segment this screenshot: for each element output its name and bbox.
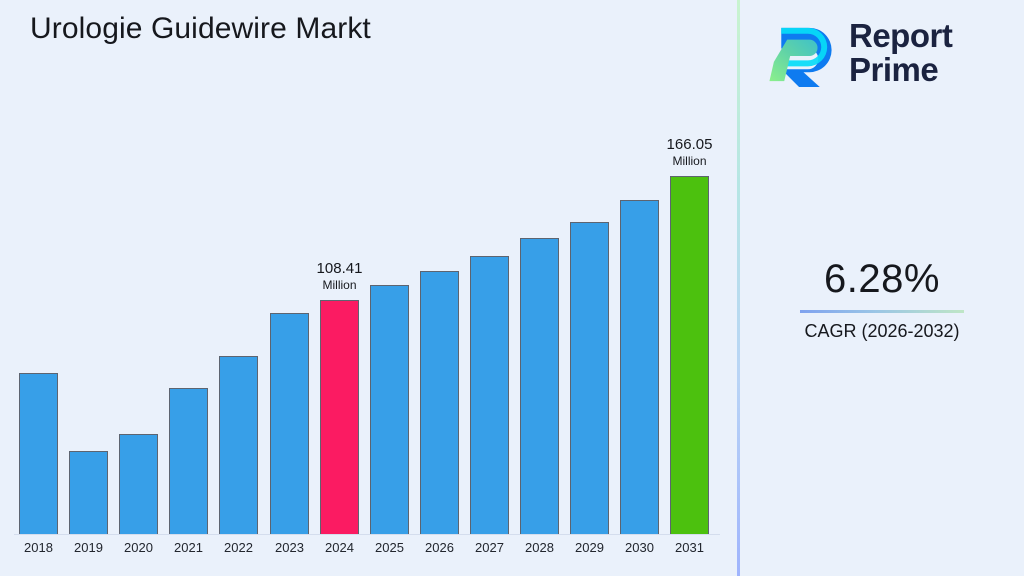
bar-2019 bbox=[69, 451, 108, 534]
bar-data-label-value-2031: 166.05 bbox=[640, 136, 740, 154]
chart-screenshot: Urologie Guidewire Markt 201820192020202… bbox=[0, 0, 1024, 576]
bar-data-label-2031: 166.05Million bbox=[640, 136, 740, 169]
bar-2022 bbox=[219, 356, 258, 534]
bar-data-label-value-2024: 108.41 bbox=[290, 260, 390, 278]
chart-panel: Urologie Guidewire Markt 201820192020202… bbox=[0, 0, 738, 576]
cagr-block: 6.28% CAGR (2026-2032) bbox=[740, 255, 1024, 343]
x-axis-line bbox=[14, 534, 720, 535]
x-axis-tick-2031: 2031 bbox=[660, 540, 720, 555]
report-prime-logo: Report Prime bbox=[765, 8, 1005, 98]
bar-2030 bbox=[620, 200, 659, 534]
report-prime-logo-icon bbox=[765, 16, 839, 90]
bar-2026 bbox=[420, 271, 459, 534]
page-title: Urologie Guidewire Markt bbox=[30, 12, 371, 46]
bar-2029 bbox=[570, 222, 609, 534]
logo-wordmark-line1: Report bbox=[849, 19, 952, 53]
bar-2018 bbox=[19, 373, 58, 534]
bar-2024 bbox=[320, 300, 359, 534]
logo-wordmark-line2: Prime bbox=[849, 53, 952, 87]
bar-2020 bbox=[119, 434, 158, 534]
brand-panel: Report Prime 6.28% CAGR (2026-2032) bbox=[740, 0, 1024, 576]
logo-wordmark: Report Prime bbox=[849, 19, 952, 87]
bar-2028 bbox=[520, 238, 559, 534]
bar-data-label-unit-2031: Million bbox=[640, 154, 740, 169]
cagr-caption: CAGR (2026-2032) bbox=[740, 319, 1024, 343]
cagr-value: 6.28% bbox=[740, 255, 1024, 303]
bar-2031 bbox=[670, 176, 709, 534]
bar-chart-plot-area: 201820192020202120222023108.41Million202… bbox=[0, 120, 738, 576]
bar-2021 bbox=[169, 388, 208, 534]
cagr-divider-rule bbox=[800, 310, 964, 313]
bar-2025 bbox=[370, 285, 409, 534]
bar-2023 bbox=[270, 313, 309, 534]
bar-2027 bbox=[470, 256, 509, 534]
